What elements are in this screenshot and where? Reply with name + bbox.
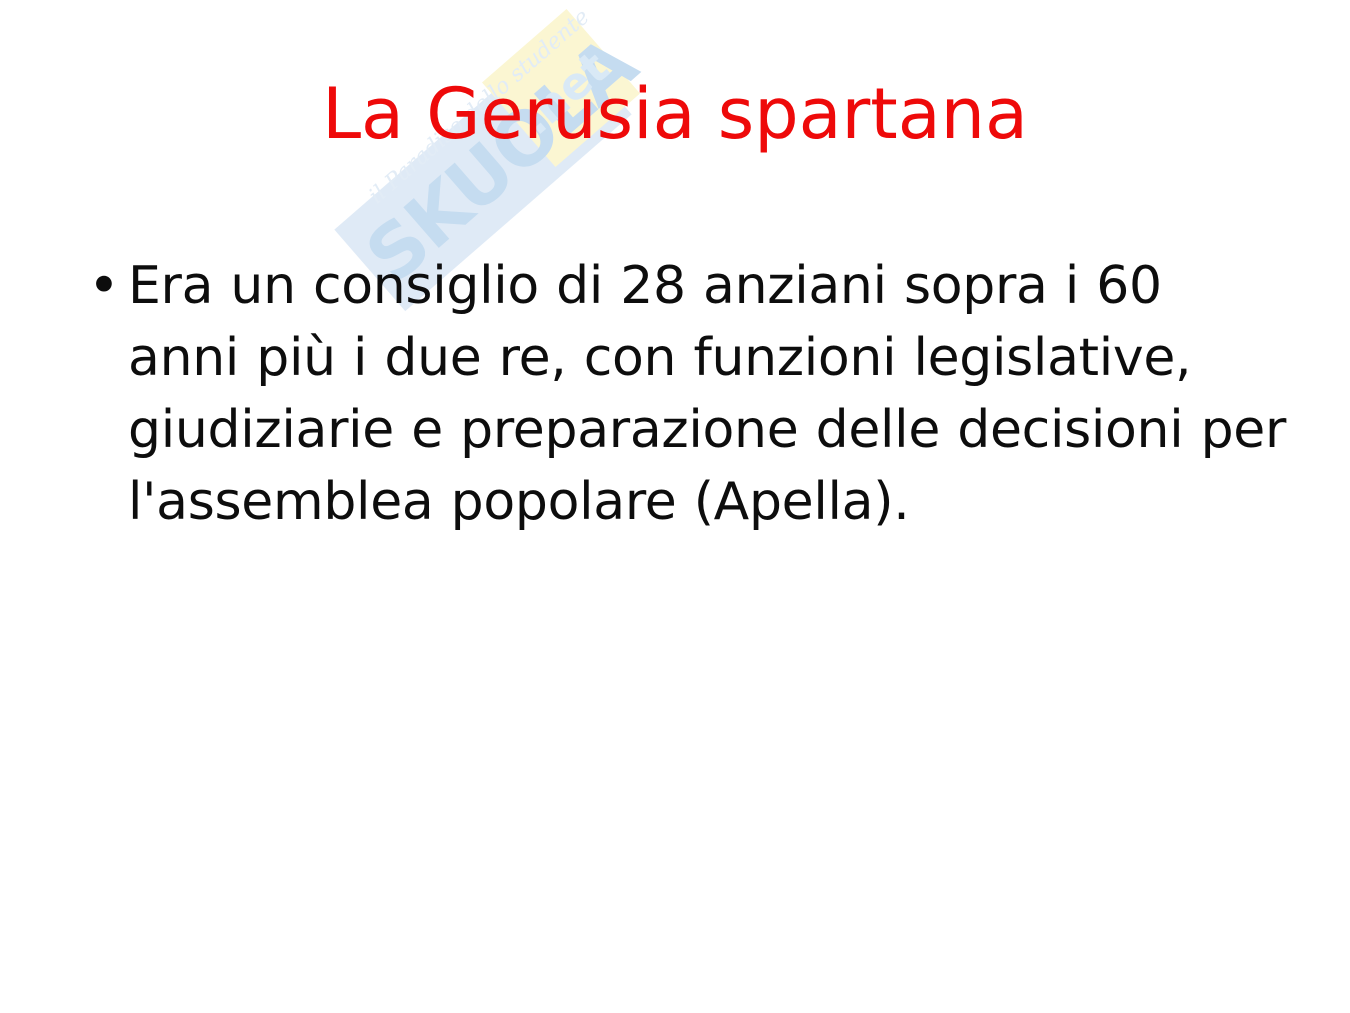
presentation-slide: SKUOLA .net il Paradiso dello studente L… bbox=[0, 0, 1350, 1013]
slide-title: La Gerusia spartana bbox=[0, 70, 1350, 158]
bullet-marker-icon: • bbox=[78, 250, 128, 322]
list-item: • Era un consiglio di 28 anziani sopra i… bbox=[78, 250, 1288, 538]
slide-body: • Era un consiglio di 28 anziani sopra i… bbox=[78, 250, 1288, 538]
bullet-text: Era un consiglio di 28 anziani sopra i 6… bbox=[128, 250, 1288, 538]
